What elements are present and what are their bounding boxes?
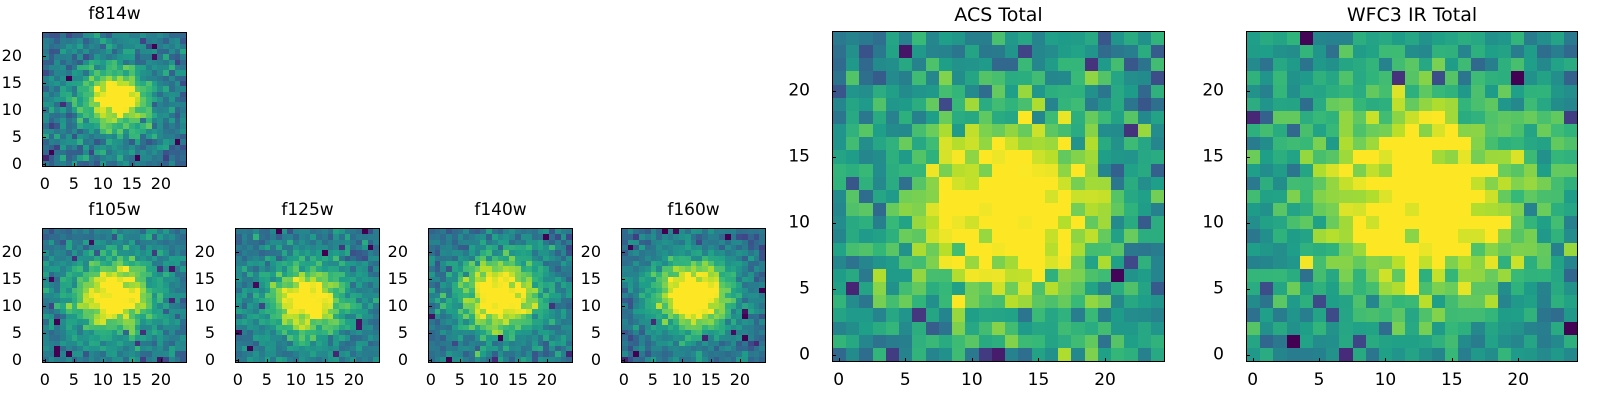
y-tick-mark <box>428 306 432 307</box>
y-tick-label: 0 <box>786 347 810 364</box>
y-tick-label: 5 <box>1200 281 1224 298</box>
heatmap-wfc3-ir-total[interactable] <box>1246 31 1578 362</box>
panel-title-f105w: f105w <box>42 202 187 219</box>
y-tick-label: 20 <box>0 244 22 260</box>
x-tick-mark <box>1105 358 1106 362</box>
y-tick-label: 0 <box>577 352 601 368</box>
y-tick-label: 15 <box>191 271 215 287</box>
heatmap-grid <box>833 32 1164 361</box>
y-tick-mark <box>428 252 432 253</box>
y-tick-label: 0 <box>0 156 22 172</box>
y-tick-label: 20 <box>384 244 408 260</box>
heatmap-grid <box>43 33 186 166</box>
panel-acs-total: ACS Total 0510152005101520 <box>790 0 1190 400</box>
panel-f125w: f125w 0510152005101520 <box>193 196 393 400</box>
panel-title-f814w: f814w <box>42 6 187 23</box>
x-tick-label: 20 <box>151 176 171 192</box>
y-tick-label: 5 <box>786 281 810 298</box>
x-tick-label: 10 <box>672 372 692 388</box>
figure-canvas: f814w 0510152005101520 f105w 05101520051… <box>0 0 1600 400</box>
y-tick-mark <box>832 91 836 92</box>
y-tick-mark <box>832 355 836 356</box>
x-tick-mark <box>325 359 326 363</box>
panel-f140w: f140w 0510152005101520 <box>386 196 586 400</box>
x-tick-mark <box>682 359 683 363</box>
heatmap-f160w[interactable] <box>621 228 766 363</box>
x-tick-label: 15 <box>1441 372 1463 389</box>
x-tick-mark <box>518 359 519 363</box>
panel-f160w: f160w 0510152005101520 <box>579 196 779 400</box>
x-tick-label: 15 <box>1028 372 1050 389</box>
x-tick-mark <box>296 359 297 363</box>
x-tick-label: 5 <box>900 372 911 389</box>
heatmap-grid <box>429 229 572 362</box>
y-tick-mark <box>42 83 46 84</box>
x-tick-label: 10 <box>479 372 499 388</box>
x-tick-mark <box>653 359 654 363</box>
y-tick-mark <box>832 157 836 158</box>
x-tick-mark <box>267 359 268 363</box>
x-tick-label: 5 <box>1314 372 1325 389</box>
y-tick-label: 15 <box>1200 148 1224 165</box>
x-tick-mark <box>132 163 133 167</box>
y-tick-mark <box>235 360 239 361</box>
y-tick-mark <box>1246 157 1250 158</box>
x-tick-mark <box>711 359 712 363</box>
y-tick-mark <box>1246 223 1250 224</box>
heatmap-acs-total[interactable] <box>832 31 1165 362</box>
x-tick-mark <box>1385 358 1386 362</box>
panel-title-f140w: f140w <box>428 202 573 219</box>
y-tick-label: 0 <box>0 352 22 368</box>
x-tick-label: 10 <box>961 372 983 389</box>
y-tick-label: 10 <box>384 298 408 314</box>
x-tick-label: 15 <box>122 176 142 192</box>
y-tick-label: 5 <box>0 325 22 341</box>
x-tick-label: 5 <box>69 176 79 192</box>
x-tick-label: 0 <box>233 372 243 388</box>
y-tick-mark <box>42 137 46 138</box>
y-tick-label: 5 <box>384 325 408 341</box>
y-tick-label: 10 <box>0 102 22 118</box>
y-tick-mark <box>621 279 625 280</box>
heatmap-f140w[interactable] <box>428 228 573 363</box>
x-tick-label: 5 <box>455 372 465 388</box>
y-tick-mark <box>621 306 625 307</box>
y-tick-label: 15 <box>0 75 22 91</box>
y-tick-mark <box>42 252 46 253</box>
y-tick-label: 10 <box>577 298 601 314</box>
x-tick-mark <box>489 359 490 363</box>
y-tick-mark <box>832 223 836 224</box>
y-tick-mark <box>621 252 625 253</box>
heatmap-grid <box>43 229 186 362</box>
x-tick-label: 5 <box>648 372 658 388</box>
y-tick-label: 15 <box>0 271 22 287</box>
heatmap-grid <box>1247 32 1577 361</box>
x-tick-mark <box>972 358 973 362</box>
y-tick-mark <box>1246 355 1250 356</box>
y-tick-label: 15 <box>786 148 810 165</box>
x-tick-mark <box>1518 358 1519 362</box>
x-tick-mark <box>1452 358 1453 362</box>
y-tick-label: 0 <box>384 352 408 368</box>
y-tick-mark <box>42 110 46 111</box>
heatmap-f105w[interactable] <box>42 228 187 363</box>
y-tick-mark <box>832 289 836 290</box>
panel-f105w: f105w 0510152005101520 <box>0 196 200 400</box>
y-tick-label: 20 <box>577 244 601 260</box>
x-tick-label: 0 <box>619 372 629 388</box>
x-tick-label: 5 <box>262 372 272 388</box>
y-tick-label: 20 <box>0 48 22 64</box>
x-tick-label: 20 <box>151 372 171 388</box>
y-tick-mark <box>428 279 432 280</box>
y-tick-mark <box>235 252 239 253</box>
x-tick-label: 15 <box>315 372 335 388</box>
y-tick-label: 15 <box>384 271 408 287</box>
heatmap-f125w[interactable] <box>235 228 380 363</box>
x-tick-label: 20 <box>344 372 364 388</box>
x-tick-mark <box>74 359 75 363</box>
x-tick-mark <box>103 359 104 363</box>
panel-wfc3-ir-total: WFC3 IR Total 0510152005101520 <box>1204 0 1600 400</box>
y-tick-mark <box>42 164 46 165</box>
x-tick-mark <box>74 163 75 167</box>
x-tick-mark <box>740 359 741 363</box>
panel-f814w: f814w 0510152005101520 <box>0 0 200 195</box>
x-tick-label: 15 <box>508 372 528 388</box>
y-tick-mark <box>428 333 432 334</box>
x-tick-label: 0 <box>833 372 844 389</box>
y-tick-label: 20 <box>786 82 810 99</box>
x-tick-label: 10 <box>1375 372 1397 389</box>
y-tick-mark <box>1246 289 1250 290</box>
x-tick-mark <box>839 358 840 362</box>
x-tick-label: 10 <box>93 372 113 388</box>
y-tick-label: 0 <box>191 352 215 368</box>
y-tick-label: 10 <box>191 298 215 314</box>
heatmap-grid <box>236 229 379 362</box>
y-tick-label: 15 <box>577 271 601 287</box>
x-tick-mark <box>132 359 133 363</box>
y-tick-label: 5 <box>577 325 601 341</box>
x-tick-mark <box>354 359 355 363</box>
x-tick-label: 0 <box>40 176 50 192</box>
x-tick-label: 20 <box>1094 372 1116 389</box>
x-tick-label: 20 <box>730 372 750 388</box>
panel-title-wfc3-ir-total: WFC3 IR Total <box>1246 6 1578 25</box>
x-tick-label: 0 <box>40 372 50 388</box>
panel-title-acs-total: ACS Total <box>832 6 1165 25</box>
y-tick-label: 20 <box>1200 82 1224 99</box>
x-tick-label: 0 <box>426 372 436 388</box>
x-tick-label: 10 <box>93 176 113 192</box>
y-tick-mark <box>42 306 46 307</box>
y-tick-label: 0 <box>1200 347 1224 364</box>
y-tick-mark <box>42 333 46 334</box>
y-tick-mark <box>42 360 46 361</box>
y-tick-mark <box>428 360 432 361</box>
heatmap-f814w[interactable] <box>42 32 187 167</box>
y-tick-mark <box>621 360 625 361</box>
y-tick-mark <box>42 279 46 280</box>
y-tick-label: 10 <box>786 214 810 231</box>
x-tick-label: 20 <box>537 372 557 388</box>
x-tick-label: 5 <box>69 372 79 388</box>
heatmap-grid <box>622 229 765 362</box>
y-tick-mark <box>235 306 239 307</box>
y-tick-label: 10 <box>0 298 22 314</box>
y-tick-label: 10 <box>1200 214 1224 231</box>
x-tick-mark <box>547 359 548 363</box>
panel-title-f125w: f125w <box>235 202 380 219</box>
x-tick-mark <box>1319 358 1320 362</box>
x-tick-mark <box>1038 358 1039 362</box>
y-tick-mark <box>1246 91 1250 92</box>
x-tick-label: 10 <box>286 372 306 388</box>
y-tick-mark <box>235 333 239 334</box>
y-tick-mark <box>42 56 46 57</box>
x-tick-mark <box>460 359 461 363</box>
x-tick-mark <box>1253 358 1254 362</box>
panel-title-f160w: f160w <box>621 202 766 219</box>
x-tick-label: 15 <box>122 372 142 388</box>
x-tick-mark <box>905 358 906 362</box>
x-tick-label: 20 <box>1507 372 1529 389</box>
y-tick-label: 5 <box>0 129 22 145</box>
y-tick-mark <box>621 333 625 334</box>
x-tick-mark <box>161 359 162 363</box>
x-tick-label: 15 <box>701 372 721 388</box>
x-tick-label: 0 <box>1247 372 1258 389</box>
y-tick-mark <box>235 279 239 280</box>
x-tick-mark <box>103 163 104 167</box>
x-tick-mark <box>161 163 162 167</box>
y-tick-label: 5 <box>191 325 215 341</box>
y-tick-label: 20 <box>191 244 215 260</box>
